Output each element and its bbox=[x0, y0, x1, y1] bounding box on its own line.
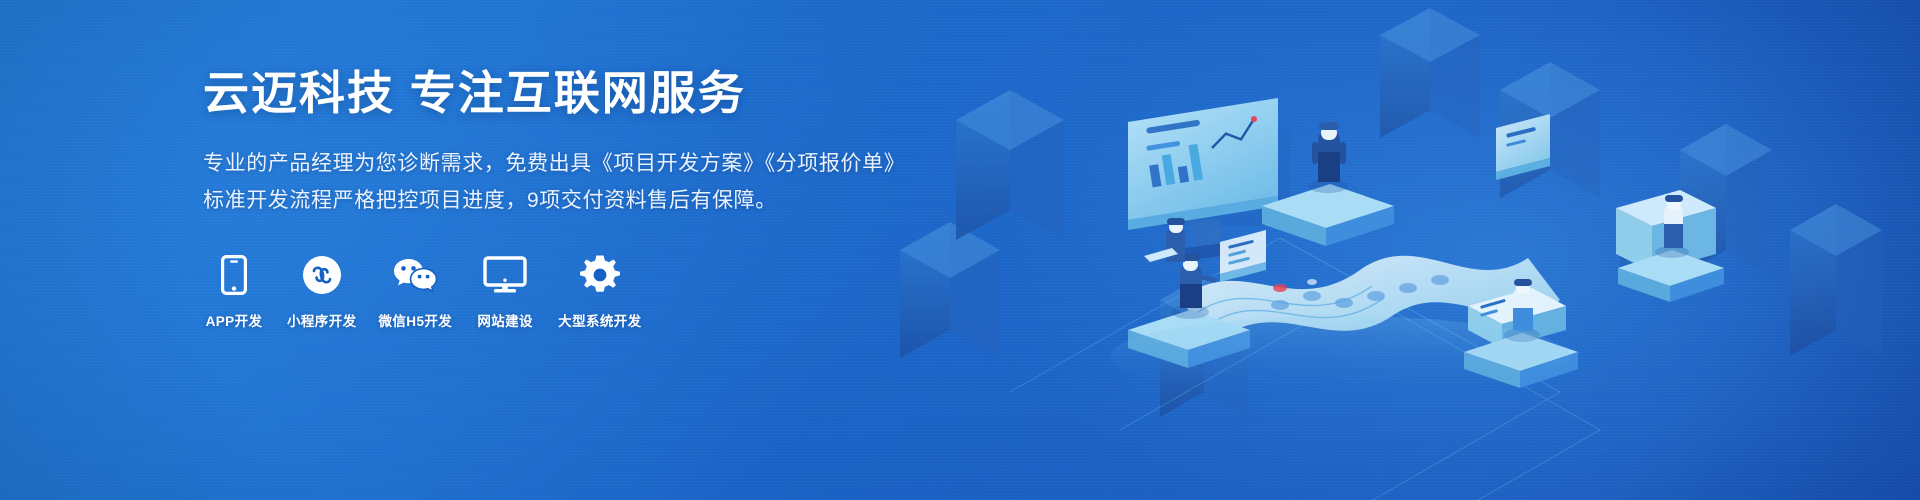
service-item-website[interactable]: 网站建设 bbox=[474, 254, 536, 330]
service-label-app: APP开发 bbox=[206, 310, 263, 330]
gear-icon bbox=[579, 254, 621, 296]
mini-program-icon bbox=[302, 254, 342, 296]
page-title: 云迈科技 专注互联网服务 bbox=[203, 66, 923, 120]
service-item-wechat[interactable]: 微信H5开发 bbox=[379, 254, 453, 330]
hero-banner: 云迈科技 专注互联网服务 专业的产品经理为您诊断需求，免费出具《项目开发方案》《… bbox=[0, 0, 1920, 500]
service-item-app[interactable]: APP开发 bbox=[203, 254, 265, 330]
subtitle-line-2: 标准开发流程严格把控项目进度，9项交付资料售后有保障。 bbox=[203, 183, 923, 220]
banner-subtitle: 专业的产品经理为您诊断需求，免费出具《项目开发方案》《分项报价单》 标准开发流程… bbox=[203, 146, 923, 220]
service-list: APP开发 小程序开发 bbox=[203, 254, 923, 330]
illustration-isometric-data-platform bbox=[860, 0, 1920, 500]
service-label-website: 网站建设 bbox=[477, 310, 533, 330]
mobile-phone-icon bbox=[221, 254, 247, 296]
banner-content: 云迈科技 专注互联网服务 专业的产品经理为您诊断需求，免费出具《项目开发方案》《… bbox=[203, 66, 923, 330]
service-item-mini-program[interactable]: 小程序开发 bbox=[287, 254, 357, 330]
service-label-mini-program: 小程序开发 bbox=[287, 310, 357, 330]
service-label-large-system: 大型系统开发 bbox=[558, 310, 641, 330]
subtitle-line-1: 专业的产品经理为您诊断需求，免费出具《项目开发方案》《分项报价单》 bbox=[203, 146, 923, 183]
service-item-large-system[interactable]: 大型系统开发 bbox=[558, 254, 641, 330]
wechat-icon bbox=[392, 254, 438, 296]
monitor-icon bbox=[483, 254, 527, 296]
service-label-wechat-h5: 微信H5开发 bbox=[379, 310, 453, 330]
